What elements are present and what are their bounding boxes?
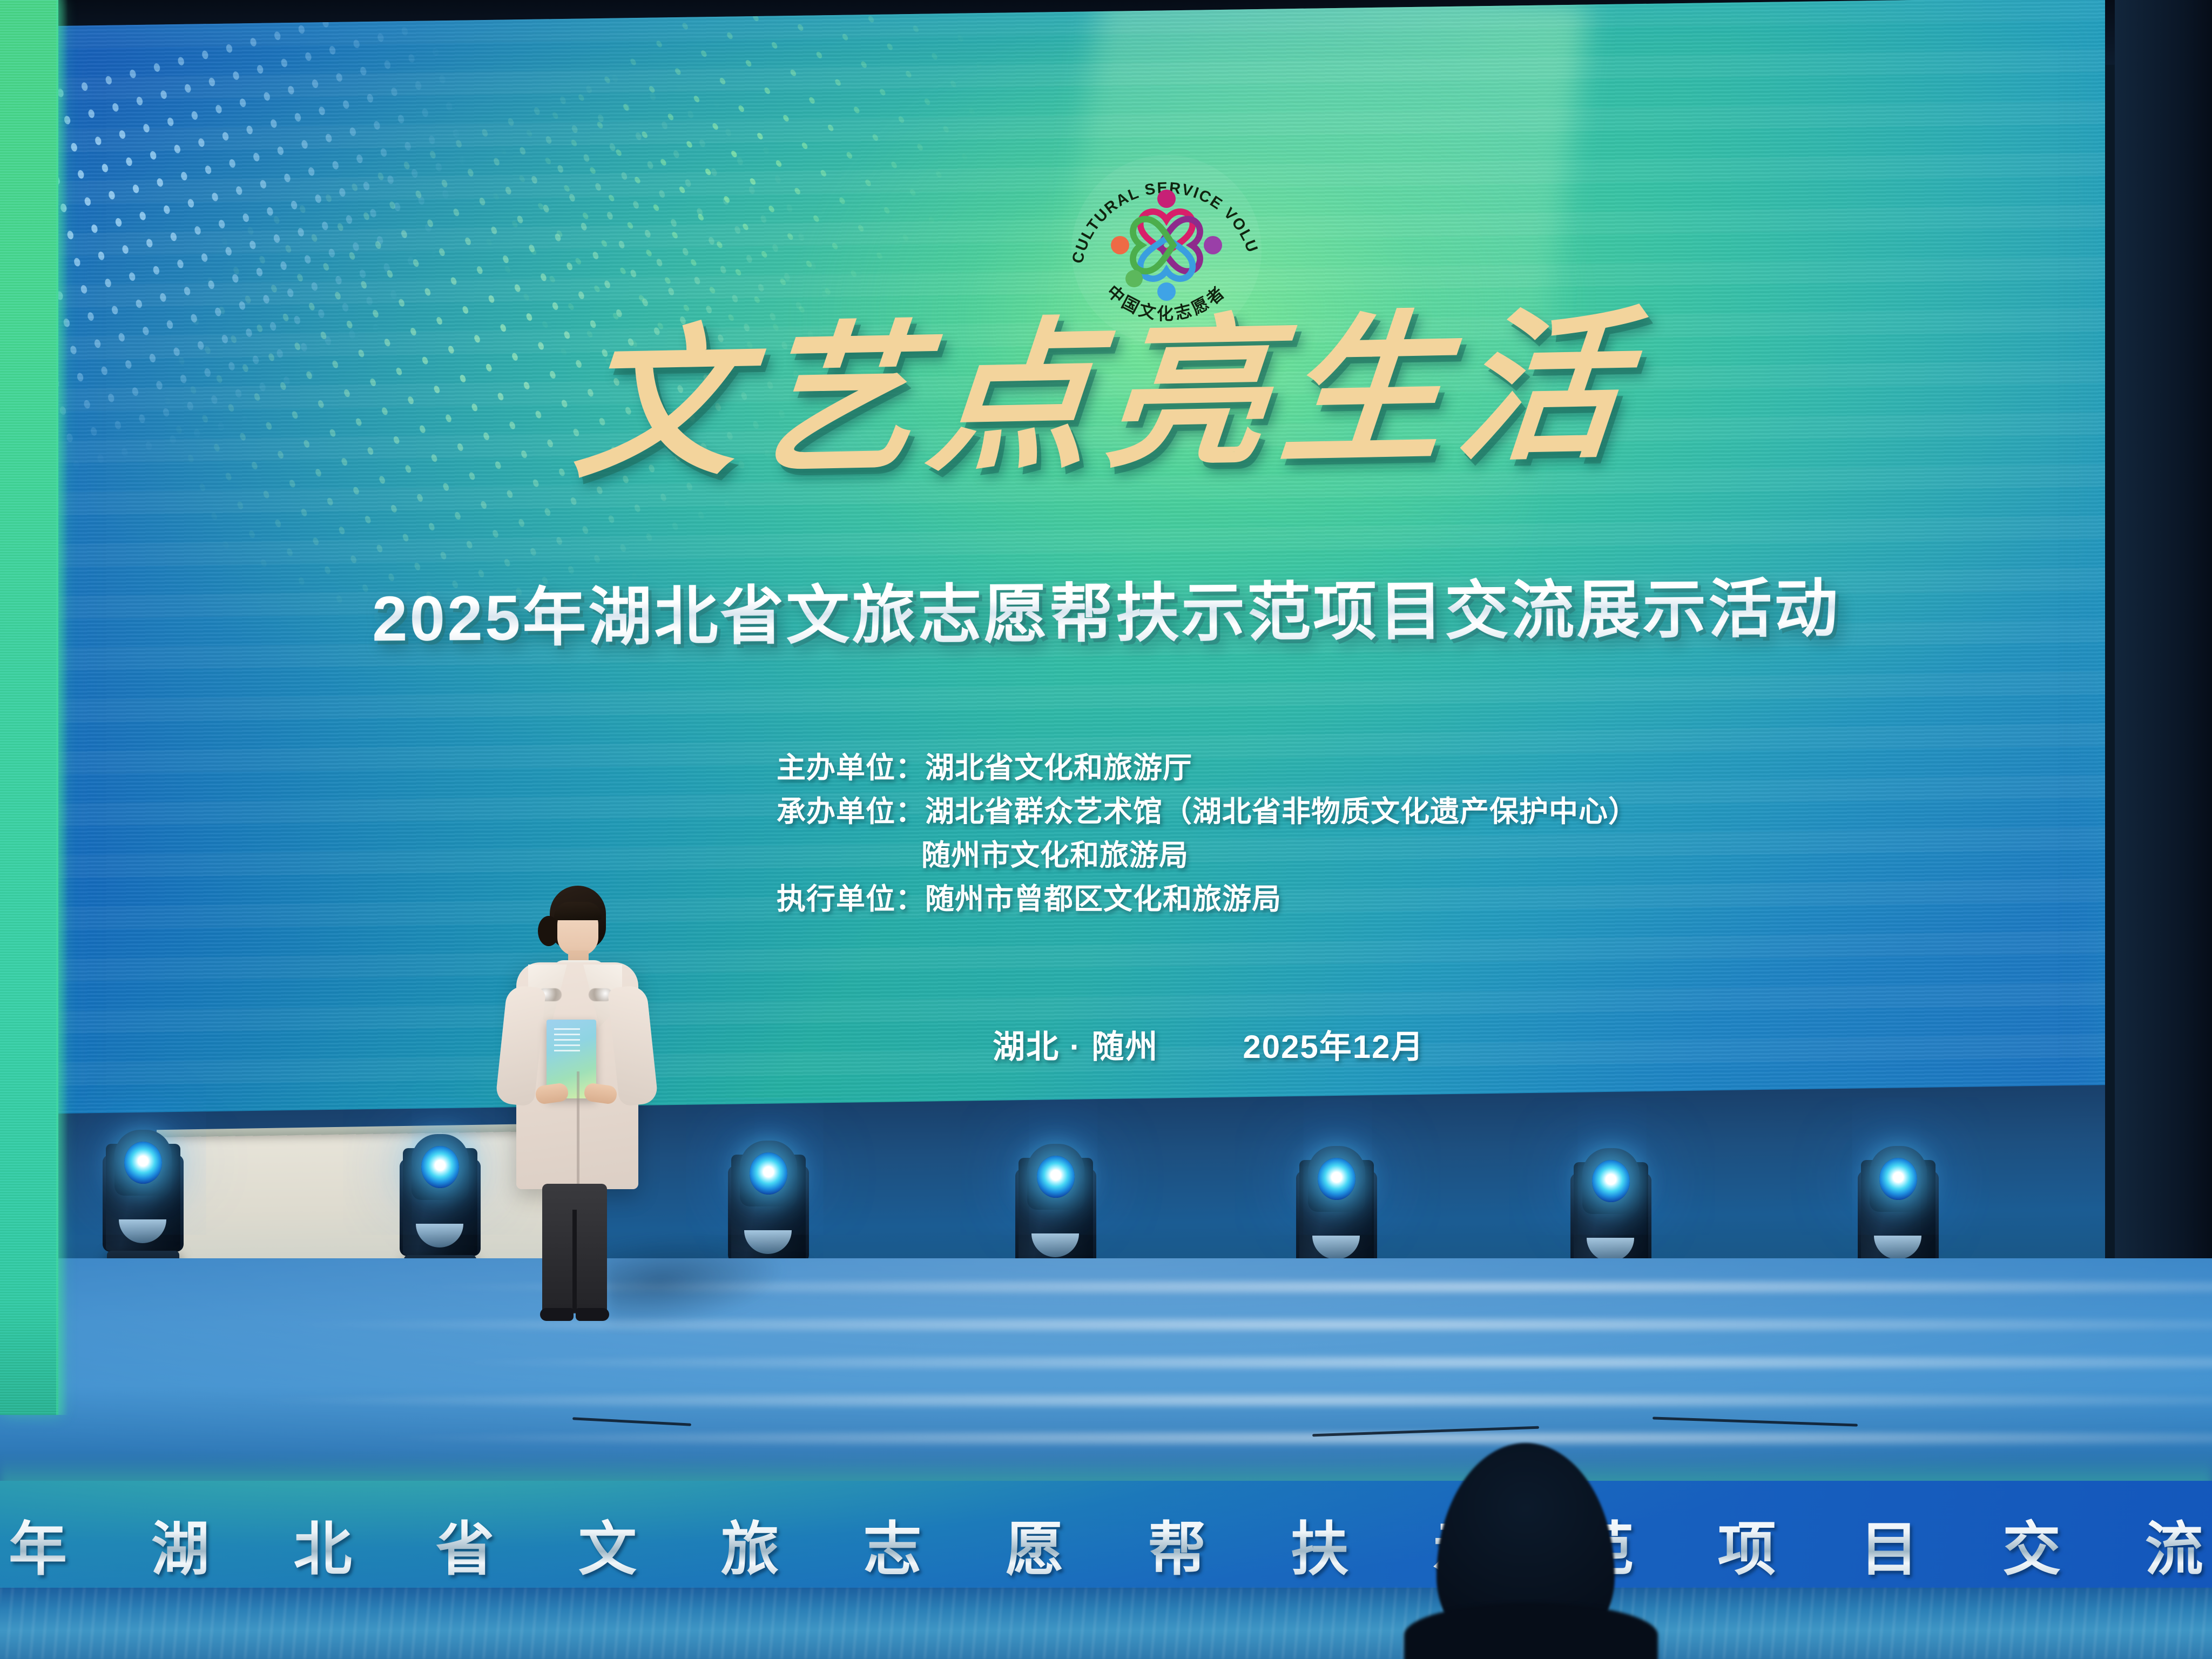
banner-char: 帮 — [1148, 1502, 1206, 1587]
place-and-date: 湖北 · 随州 2025年12月 — [993, 1021, 1425, 1068]
stage-light-lens-icon — [1318, 1158, 1355, 1200]
banner-char: 愿 — [1006, 1502, 1064, 1587]
presenter-fringe — [554, 902, 602, 920]
organizer-credits: 主办单位： 湖北省文化和旅游厅 承办单位： 湖北省群众艺术馆（湖北省非物质文化遗… — [777, 746, 1803, 921]
auditorium-right-wall — [2115, 0, 2212, 1382]
credit-row-host: 主办单位： 湖北省文化和旅游厅 — [777, 746, 1803, 790]
stage-light-lens-icon — [750, 1152, 787, 1195]
stage-cable — [572, 1417, 691, 1426]
led-side-wing-green — [0, 0, 58, 1415]
presenter-shoe-left — [540, 1308, 574, 1321]
banner-char: 旅 — [721, 1502, 779, 1587]
deck-ripple — [0, 1355, 2212, 1370]
stage-light-lens-icon — [421, 1146, 459, 1188]
credit-label-organizer: 承办单位： — [777, 790, 925, 834]
banner-char: 志 — [863, 1502, 921, 1587]
banner-char: 目 — [1860, 1502, 1918, 1587]
stage-cable — [1653, 1417, 1858, 1426]
stage-light-lens-icon — [124, 1142, 162, 1184]
banner-text-row: 年 湖 北 省 文 旅 志 愿 帮 扶 示 范 项 目 交 流 — [0, 1502, 2212, 1587]
presenter-coat-seam — [577, 1071, 579, 1190]
credit-label-host: 主办单位： — [777, 746, 925, 790]
banner-char: 流 — [2145, 1502, 2203, 1587]
deck-ripple — [0, 1280, 2212, 1294]
credit-value-executor: 随州市曾都区文化和旅游局 — [925, 878, 1803, 921]
banner-char: 年 — [9, 1502, 67, 1587]
stage-photo: CHINA CULTURAL SERVICE VOLUNTEERS 中国文化志愿… — [0, 0, 2212, 1659]
banner-char: 省 — [436, 1502, 494, 1587]
presenter-hair-bun — [538, 916, 559, 946]
banner-char: 项 — [1718, 1502, 1776, 1587]
banner-char: 文 — [578, 1502, 637, 1587]
event-place: 湖北 · 随州 — [993, 1021, 1158, 1068]
presenter-host — [486, 886, 664, 1334]
deck-ripple — [0, 1393, 2212, 1407]
credit-row-organizer-second: 随州市文化和旅游局 — [777, 834, 1803, 878]
credit-label-executor: 执行单位： — [777, 878, 925, 921]
event-date: 2025年12月 — [1243, 1021, 1424, 1068]
credit-value-organizer-second: 随州市文化和旅游局 — [777, 834, 1803, 878]
credit-row-organizer: 承办单位： 湖北省群众艺术馆（湖北省非物质文化遗产保护中心） — [777, 790, 1803, 834]
credit-row-executor: 执行单位： 随州市曾都区文化和旅游局 — [777, 878, 1803, 921]
stage-deck — [0, 1258, 2212, 1491]
event-subtitle: 2025年湖北省文旅志愿帮扶示范项目交流展示活动 — [0, 554, 2212, 662]
deck-ripple — [0, 1431, 2212, 1445]
led-side-wing-glow — [56, 0, 68, 1415]
credit-value-organizer: 湖北省群众艺术馆（湖北省非物质文化遗产保护中心） — [925, 790, 1803, 834]
stage-light-lens-icon — [1037, 1156, 1075, 1198]
presenter-shoe-right — [576, 1308, 609, 1321]
deck-ripple — [0, 1318, 2212, 1332]
banner-char: 湖 — [151, 1502, 210, 1587]
stage-apron-floor — [0, 1588, 2212, 1659]
banner-char: 北 — [293, 1502, 352, 1587]
banner-char: 扶 — [1290, 1502, 1348, 1587]
stage-light-lens-icon — [1592, 1160, 1630, 1202]
stage-light-lens-icon — [1879, 1158, 1917, 1200]
presenter-trouser-gap — [572, 1210, 577, 1312]
credit-value-host: 湖北省文化和旅游厅 — [925, 746, 1803, 790]
banner-char: 交 — [2002, 1502, 2061, 1587]
